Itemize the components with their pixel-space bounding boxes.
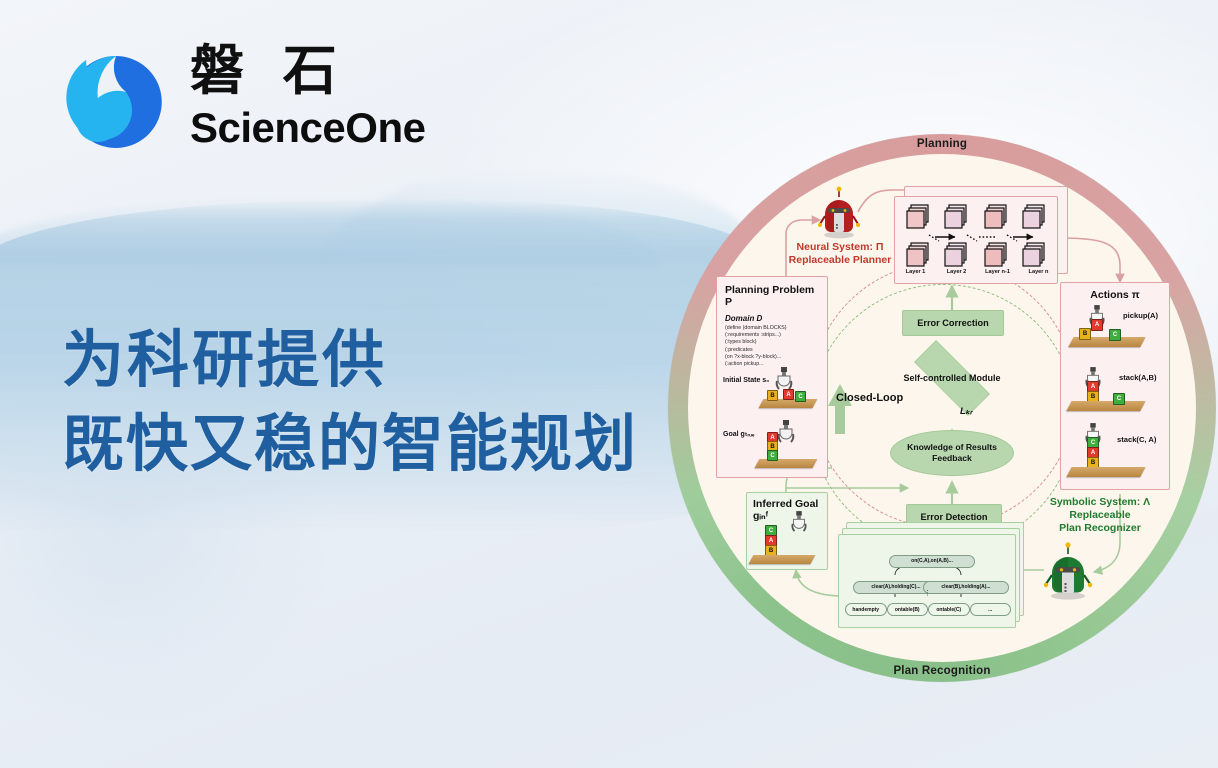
table-surface [1066, 401, 1145, 411]
block-B: B [1079, 328, 1091, 340]
neural-system-label-line1: Neural System: Π [776, 241, 904, 254]
layer-label: Layer 2 [936, 269, 977, 281]
layer-label: Layer 1 [895, 269, 936, 281]
recognition-tree-box: on(C,A),on(A,B)... clear(A),holding(C)..… [838, 534, 1016, 628]
block-A: A [783, 389, 794, 400]
knowledge-feedback-node: Knowledge of Results Feedback [890, 430, 1014, 476]
pddl-line: (:predicates [725, 347, 819, 354]
actions-title: Actions π [1067, 289, 1163, 301]
tree-leaf: ontable(C) [928, 603, 970, 616]
pddl-line: (define (domain BLOCKS) [725, 325, 819, 332]
block-C: C [1113, 393, 1125, 405]
gripper-icon [773, 367, 795, 391]
lkr-edge-label: Lₖᵣ [960, 406, 973, 417]
gripper-icon [789, 511, 809, 533]
initial-state-label: Initial State s₀ [723, 377, 769, 384]
inferred-goal-title: Inferred Goal gᵢₙᶠ [753, 498, 821, 522]
symbolic-robot-icon [1044, 542, 1092, 600]
error-correction-node: Error Correction [902, 310, 1004, 336]
pddl-line: (:types block) [725, 339, 819, 346]
neural-system-label-line2: Replaceable Planner [776, 254, 904, 267]
table-surface [749, 555, 816, 564]
brand-name-cn: 磐 石 [190, 42, 347, 100]
brand-name-en: ScienceOne [190, 104, 425, 152]
planning-problem-box: Planning Problem P Domain D (define (dom… [716, 276, 828, 478]
symbolic-system-label-line3: Plan Recognizer [1020, 522, 1180, 535]
neural-robot-icon [818, 186, 860, 238]
goal-label: Goal gₜᵣᵤₑ [723, 430, 754, 438]
self-controlled-module-label: Self-controlled Module [903, 373, 1000, 384]
gripper-icon [775, 420, 797, 444]
tree-root-node: on(C,A),on(A,B)... [889, 549, 967, 568]
tree-leaf: ... [970, 603, 1012, 616]
self-controlled-module-node: Self-controlled Module [898, 356, 1006, 400]
headline: 为科研提供 既快又稳的智能规划 [62, 318, 702, 486]
symbolic-system-label-line2: Replaceable [1020, 509, 1180, 522]
headline-line-1: 为科研提供 [62, 318, 702, 402]
network-layer-labels: Layer 1 Layer 2 Layer n-1 Layer n [895, 269, 1059, 281]
block-C: C [767, 450, 778, 461]
pddl-snippet: (define (domain BLOCKS) (:requirements :… [725, 325, 819, 368]
block-A: A [1091, 319, 1103, 331]
tree-leaf: ontable(B) [887, 603, 929, 616]
headline-line-2: 既快又稳的智能规划 [62, 402, 702, 486]
action-label: stack(A,B) [1119, 373, 1157, 382]
brand-logo: 磐 石 ScienceOne [62, 42, 462, 164]
network-box-front: Layer 1 Layer 2 Layer n-1 Layer n [894, 196, 1058, 284]
neural-system-label: Neural System: Π Replaceable Planner [776, 241, 904, 267]
pddl-line: (on ?x-block ?y-block)... [725, 354, 819, 361]
closed-loop-title: Closed-Loop [836, 392, 903, 404]
planning-problem-title: Planning Problem P [725, 284, 819, 308]
tree-vdots: ⋮ [924, 589, 931, 597]
scienceone-logo-icon [62, 48, 170, 156]
tree-leaf: handempty [845, 603, 887, 616]
table-surface [1066, 467, 1145, 477]
inferred-goal-box: Inferred Goal gᵢₙᶠ C A B [746, 492, 828, 570]
layer-label: Layer n [1018, 269, 1059, 281]
table-surface [755, 459, 818, 468]
layer-label: Layer n-1 [977, 269, 1018, 281]
block-C: C [795, 391, 806, 402]
action-label: pickup(A) [1123, 311, 1158, 320]
domain-title: Domain D [725, 314, 819, 323]
actions-box: Actions π A B C pickup(A) [1060, 282, 1170, 490]
action-label: stack(C, A) [1117, 435, 1156, 444]
pddl-line: (:requirements :strips...) [725, 332, 819, 339]
tree-mid-label: clear(B),holding(A)... [923, 581, 1009, 594]
architecture-diagram: Planning Plan Recognition [668, 134, 1216, 682]
symbolic-system-label-line1: Symbolic System: Λ [1020, 496, 1180, 509]
pddl-line: (:action pickup... [725, 361, 819, 368]
tree-leaf-row: handempty ontable(B) ontable(C) ... [845, 603, 1011, 616]
tree-mid-node: clear(B),holding(A)... [923, 575, 1009, 594]
tree-root-label: on(C,A),on(A,B)... [889, 555, 975, 568]
slide-canvas: 磐 石 ScienceOne 为科研提供 既快又稳的智能规划 Planning … [0, 0, 1218, 768]
block-B: B [767, 390, 778, 401]
block-C: C [1109, 329, 1121, 341]
symbolic-system-label: Symbolic System: Λ Replaceable Plan Reco… [1020, 496, 1180, 535]
